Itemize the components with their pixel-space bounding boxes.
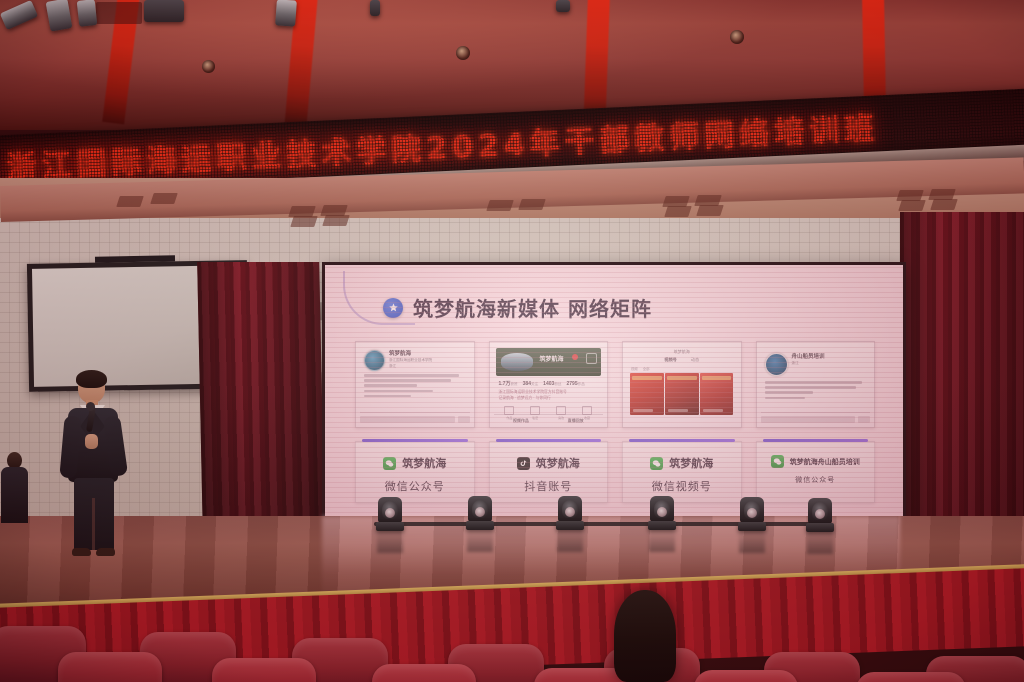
label-top: 筑梦航海 <box>356 455 474 471</box>
followed-button[interactable] <box>761 416 856 423</box>
card-wechat-official-account: 筑梦航海 浙江国际海运职业技术学院 浙江 <box>355 341 475 428</box>
presenter-leg-gap <box>92 498 95 550</box>
verified-badge-icon <box>572 354 578 360</box>
screenshot-cards-row: 筑梦航海 浙江国际海运职业技术学院 浙江 <box>355 341 875 428</box>
accent-bar <box>362 439 468 442</box>
follow-button[interactable] <box>360 416 455 423</box>
douyin-description-2: 记录航海 · 追梦远方 · 与你同行 <box>499 395 599 401</box>
card-wechat-channels: 筑梦航海 视频号 动态 视频 全部 <box>622 341 742 428</box>
platform-label-douyin: 筑梦航海 抖音账号 <box>489 441 609 503</box>
slide-title: 筑梦航海新媒体 网络矩阵 <box>383 293 652 322</box>
platform-type: 抖音账号 <box>490 478 608 494</box>
label-top: 筑梦航海舟山船员培训 <box>757 455 875 468</box>
seat <box>372 664 476 682</box>
card-header: 筑梦航海 浙江国际海运职业技术学院 浙江 <box>364 350 468 371</box>
platform-account-name: 筑梦航海舟山船员培训 <box>790 457 860 467</box>
accent-bar <box>763 439 869 442</box>
douyin-account-name: 筑梦航海 <box>540 354 564 363</box>
platform-account-name: 筑梦航海 <box>669 455 713 471</box>
microphone-head <box>86 402 95 411</box>
accent-bar <box>629 439 735 442</box>
soffit-tile <box>518 199 546 210</box>
platform-labels-row: 筑梦航海 微信公众号 筑梦航海 抖音账号 <box>355 441 875 503</box>
presenter <box>52 372 134 560</box>
attendee-body <box>1 467 28 523</box>
channels-thumbnail-grid <box>630 373 734 415</box>
ship-photo <box>501 353 533 371</box>
platform-type: 微信视频号 <box>623 478 741 494</box>
ceiling-downlight <box>730 30 744 44</box>
moving-head-light <box>806 488 834 532</box>
footer-video-works[interactable]: 视频作品 <box>513 418 529 424</box>
moving-head-light <box>376 487 404 531</box>
platform-type: 微信公众号 <box>356 478 474 494</box>
auditorium-scene: 浙江国际海运职业技术学院2024年干部教师网络培训班 筑梦航海新媒体 网络矩阵 <box>0 0 1024 682</box>
account-org: 浙江国际海运职业技术学院 <box>389 358 432 363</box>
wechat-icon <box>771 455 784 468</box>
stage-spotlight <box>556 0 570 12</box>
presenter-hand <box>85 434 98 449</box>
meta-video: 视频 <box>631 366 638 371</box>
card-action-row[interactable] <box>761 412 871 423</box>
account-name: 舟山船员培训 <box>792 353 825 361</box>
star-badge-icon <box>383 298 403 318</box>
channels-meta: 视频 全部 <box>631 366 733 371</box>
moving-head-light <box>466 486 494 530</box>
stat-item: 2795作品 <box>566 381 584 387</box>
soffit-tile <box>664 206 692 217</box>
seat <box>694 670 798 682</box>
label-top: 筑梦航海 <box>490 455 608 471</box>
card-action-row[interactable] <box>360 412 470 423</box>
seat <box>856 672 966 682</box>
tab-channel[interactable]: 视频号 <box>664 357 677 363</box>
card-body-lines <box>765 381 867 399</box>
video-thumbnail[interactable] <box>700 373 734 415</box>
card-douyin-profile: 筑梦航海 1.7万获赞 384关注 1403粉丝 2795作品 浙江国际海运职业… <box>489 341 609 428</box>
stage-spotlight <box>144 0 184 22</box>
channels-titlebar: 筑梦航海 <box>630 349 734 355</box>
ceiling-light-strip <box>583 0 610 124</box>
wechat-icon <box>650 457 663 470</box>
accent-bar <box>496 439 602 442</box>
soffit-tile <box>486 200 514 211</box>
ceiling-downlight <box>456 46 470 60</box>
presenter-hair <box>76 370 107 388</box>
stat-item: 1403粉丝 <box>543 381 561 387</box>
card-header: 舟山船员培训 浙江 <box>765 353 869 376</box>
stat-item: 1.7万获赞 <box>499 380 518 387</box>
qr-code-icon[interactable] <box>586 353 597 364</box>
soffit-tile <box>898 200 926 211</box>
channels-tabs[interactable]: 视频号 动态 <box>627 357 737 363</box>
channels-header: 筑梦航海 <box>674 349 690 355</box>
video-thumbnail[interactable] <box>665 373 699 415</box>
wechat-icon <box>383 457 396 470</box>
audience-head <box>614 590 676 682</box>
seat <box>58 652 162 682</box>
avatar <box>364 350 385 371</box>
soffit-tile <box>116 196 144 207</box>
more-button[interactable] <box>858 416 870 423</box>
soffit-tile <box>150 193 178 204</box>
moving-head-light <box>648 486 676 530</box>
stage-spotlight <box>77 0 98 27</box>
presenter-shoe-right <box>96 548 115 556</box>
douyin-footer[interactable]: 视频作品 直播回放 <box>494 414 604 424</box>
stage-spotlight <box>46 0 73 32</box>
ceiling-downlight <box>202 60 215 73</box>
soffit-tile <box>290 216 318 227</box>
tab-moments[interactable]: 动态 <box>691 357 699 363</box>
footer-live-replay[interactable]: 直播回放 <box>568 418 584 424</box>
avatar <box>765 353 788 376</box>
account-meta: 浙江 <box>389 364 432 369</box>
card-body-lines <box>364 374 466 397</box>
card-zhoushan-training-account: 舟山船员培训 浙江 <box>756 341 876 428</box>
stage-spotlight <box>275 0 297 27</box>
douyin-stats: 1.7万获赞 384关注 1403粉丝 2795作品 <box>499 380 600 387</box>
video-thumbnail[interactable] <box>630 373 664 415</box>
meta-all: 全部 <box>643 366 650 371</box>
douyin-icon <box>517 457 530 470</box>
ceiling-panel <box>96 2 142 24</box>
presenter-shoe-left <box>72 548 91 556</box>
led-display-screen: 筑梦航海新媒体 网络矩阵 筑梦航海 浙江国际海运职业技术学院 浙江 <box>322 262 906 521</box>
stat-item: 384关注 <box>523 381 539 387</box>
moving-head-light <box>738 487 766 531</box>
slide-title-text: 筑梦航海新媒体 网络矩阵 <box>413 293 652 322</box>
stage-spotlight <box>370 0 380 16</box>
soffit-tile <box>696 205 724 216</box>
douyin-cover: 筑梦航海 <box>496 348 602 376</box>
moving-head-light <box>556 486 584 530</box>
more-button[interactable] <box>458 416 470 423</box>
platform-account-name: 筑梦航海 <box>402 455 446 471</box>
account-meta: 浙江 <box>792 361 825 366</box>
platform-label-wechat-channels: 筑梦航海 微信视频号 <box>622 441 742 503</box>
audience-seating <box>0 612 1024 682</box>
platform-type: 微信公众号 <box>757 475 875 485</box>
soffit-tile <box>322 215 350 226</box>
platform-label-wechat-official: 筑梦航海 微信公众号 <box>355 441 475 503</box>
platform-account-name: 筑梦航海 <box>536 455 580 471</box>
account-name: 筑梦航海 <box>389 350 432 358</box>
left-curtain <box>197 262 325 534</box>
soffit-tile <box>930 199 958 210</box>
label-top: 筑梦航海 <box>623 455 741 471</box>
side-attendee <box>0 452 28 524</box>
seat <box>212 658 316 682</box>
